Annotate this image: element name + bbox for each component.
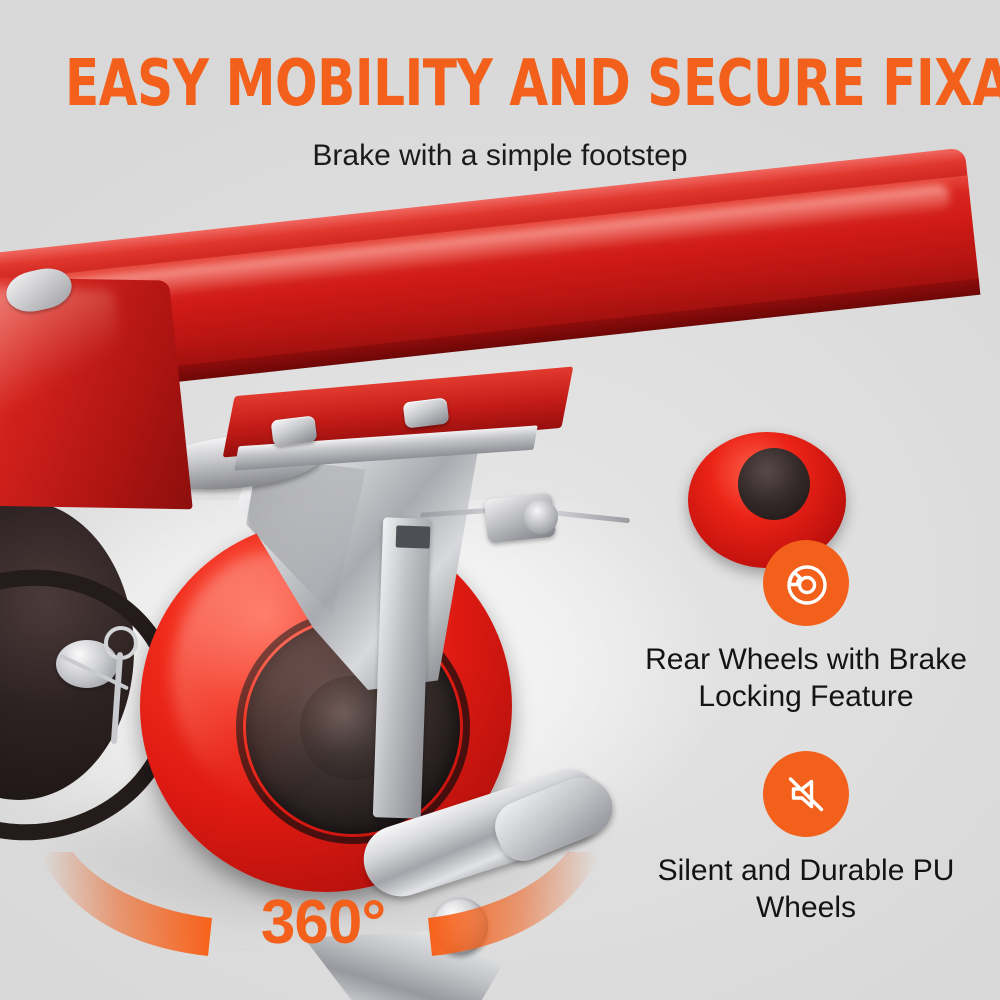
feature-list: Rear Wheels with Brake Locking Feature S… xyxy=(612,540,1000,962)
mount-bolt xyxy=(271,415,318,446)
rotation-arc-left xyxy=(42,852,212,956)
mute-speaker-glyph xyxy=(780,768,832,820)
rotation-arc-right xyxy=(428,852,598,956)
mute-speaker-icon xyxy=(763,751,849,837)
brake-strut-notch xyxy=(396,525,431,548)
feature-item-brake: Rear Wheels with Brake Locking Feature xyxy=(612,540,1000,715)
page-title: EASY MOBILITY AND SECURE FIXATION xyxy=(65,52,935,116)
mount-bolt xyxy=(403,397,450,428)
brake-disc-icon xyxy=(763,540,849,626)
rotation-badge: 360° xyxy=(40,852,600,982)
feature-label: Rear Wheels with Brake Locking Feature xyxy=(612,642,1000,715)
product-feature-banner: EASY MOBILITY AND SECURE FIXATION Brake … xyxy=(0,0,1000,1000)
rear-wheel-hub xyxy=(738,448,810,520)
feature-label: Silent and Durable PU Wheels xyxy=(612,853,1000,926)
right-axle-nut xyxy=(524,500,558,534)
rotation-degrees-label: 360° xyxy=(218,892,428,954)
feature-item-silent: Silent and Durable PU Wheels xyxy=(612,751,1000,926)
brake-disc-glyph xyxy=(780,557,832,609)
